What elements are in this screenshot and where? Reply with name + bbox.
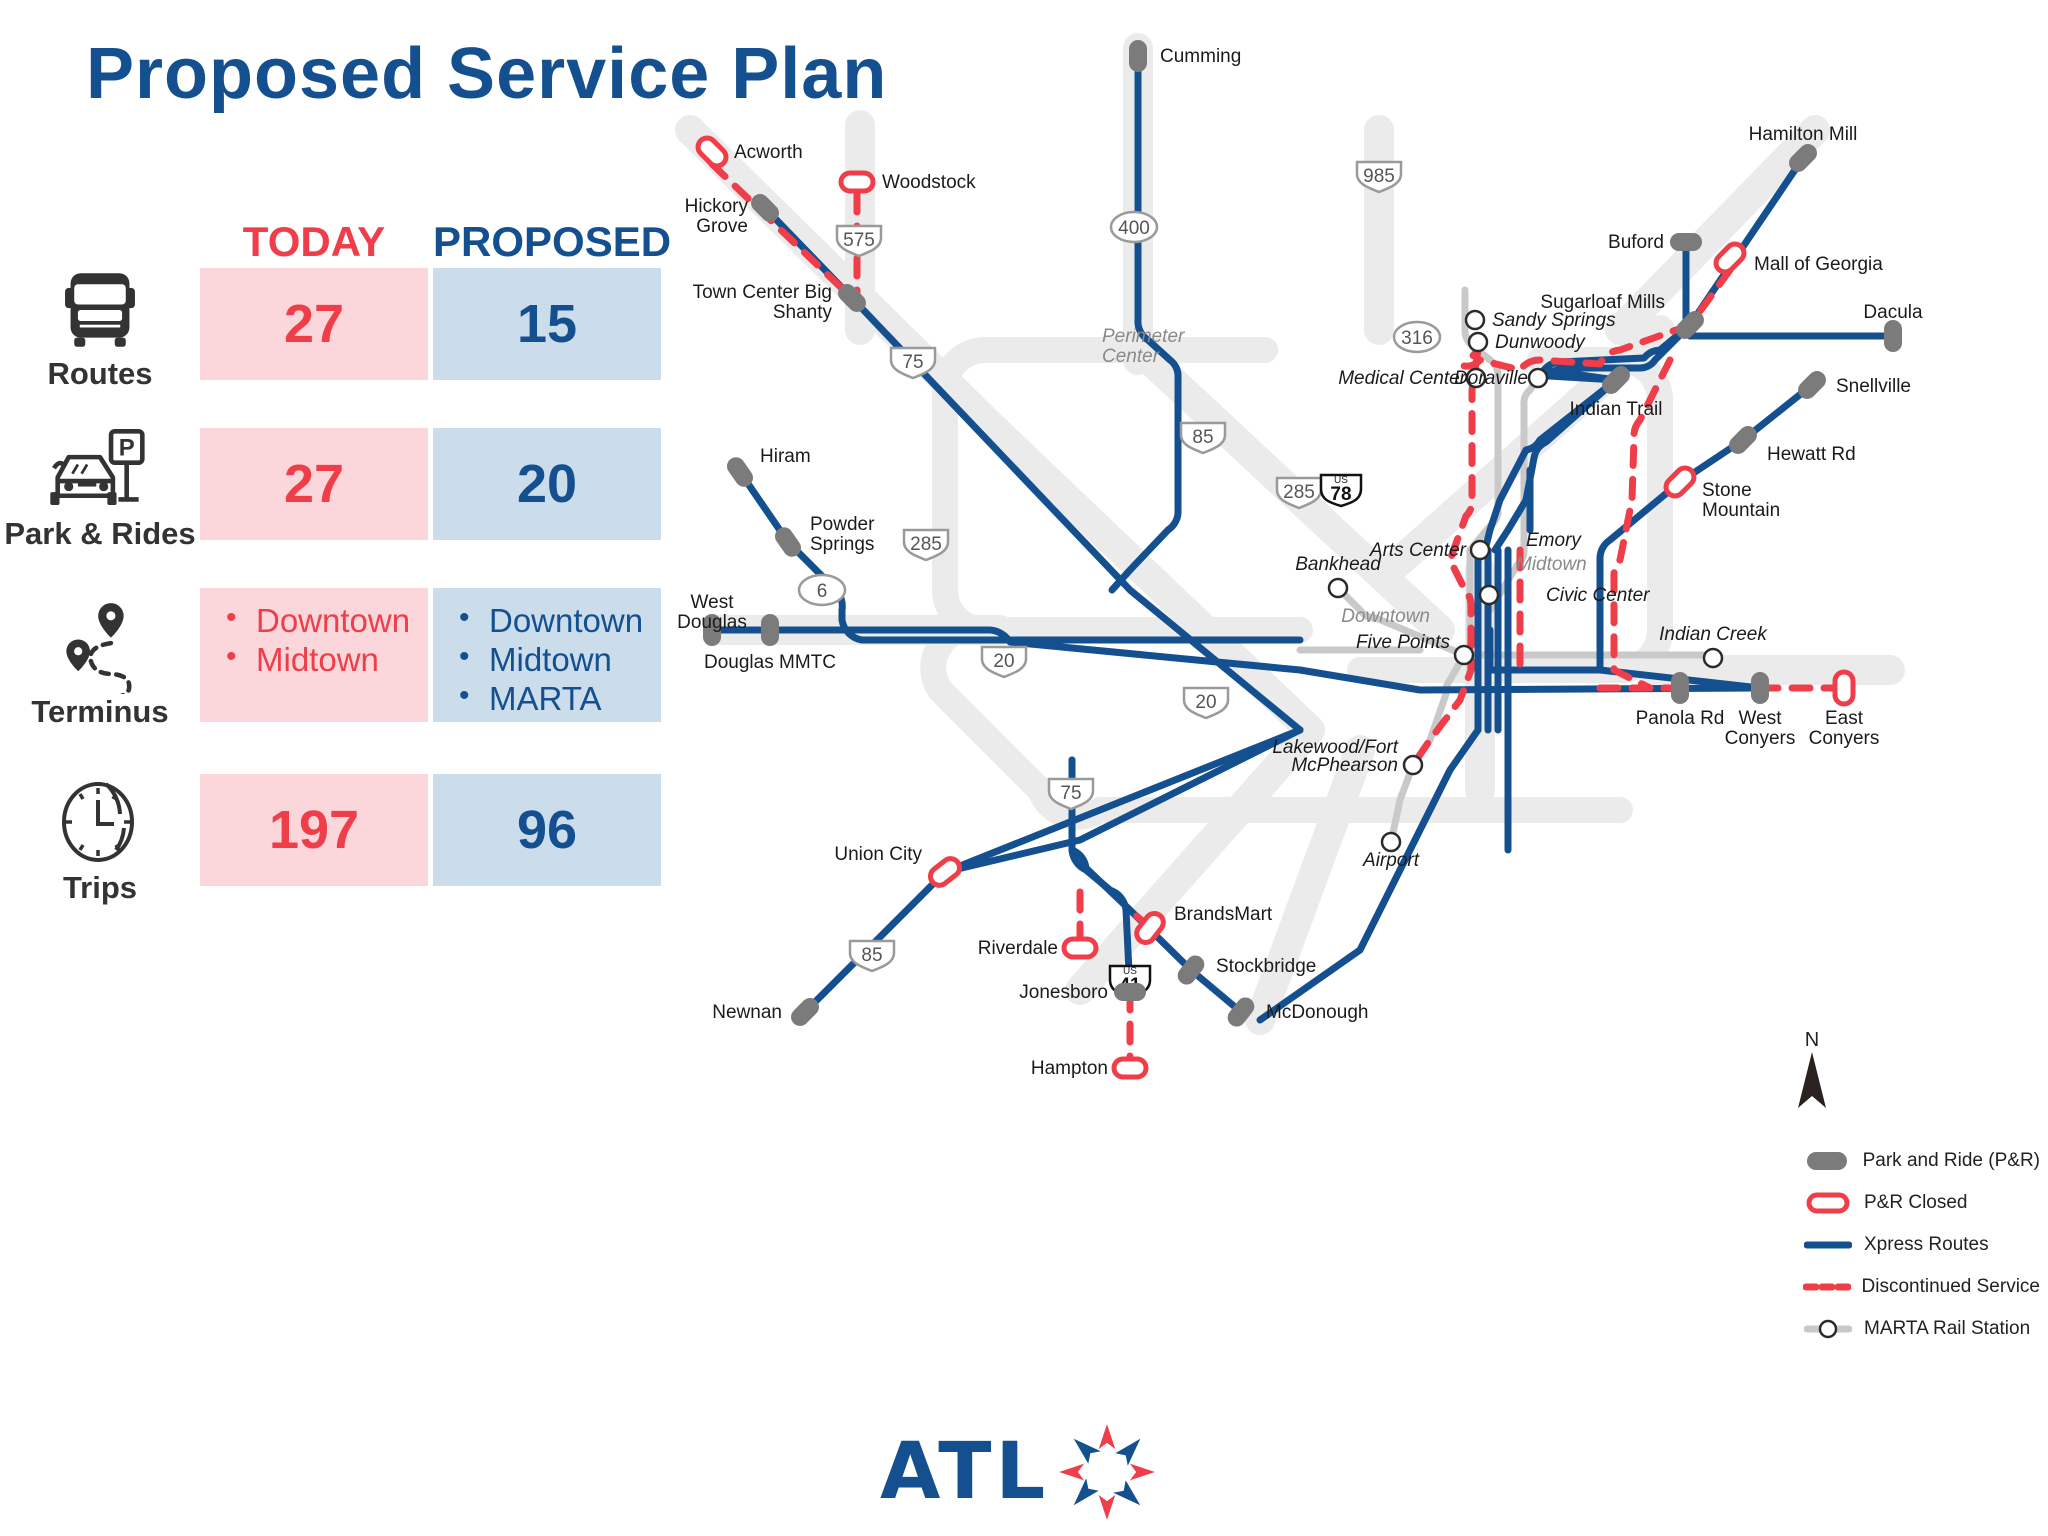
cell-today-terminus: Downtown Midtown: [200, 588, 428, 722]
station-cumming: Cumming: [1129, 40, 1241, 72]
highway-shield-20-e: 20: [1184, 688, 1228, 718]
marta-station-sandy-springs: Sandy Springs: [1466, 310, 1616, 331]
highway-shield-85-s: 85: [850, 941, 894, 971]
svg-text:20: 20: [993, 651, 1014, 672]
cell-today-park-rides: 27: [200, 428, 428, 540]
svg-text:McDonough: McDonough: [1266, 1002, 1368, 1023]
station-newnan: Newnan: [712, 994, 822, 1029]
svg-text:Dunwoody: Dunwoody: [1495, 332, 1586, 353]
station-riverdale-closed: Riverdale: [978, 938, 1096, 959]
bus-icon: [0, 260, 200, 356]
row-label: Terminus: [0, 694, 200, 730]
route-pin-icon: [0, 588, 200, 694]
svg-text:Cumming: Cumming: [1160, 46, 1241, 67]
list-item: Downtown: [222, 602, 428, 641]
svg-text:575: 575: [843, 230, 875, 251]
svg-text:Five Points: Five Points: [1356, 632, 1450, 653]
list-item: Midtown: [455, 641, 661, 680]
highway-shield-400: 400: [1111, 212, 1157, 242]
legend-label: Xpress Routes: [1864, 1234, 1989, 1256]
legend-label: P&R Closed: [1864, 1192, 1968, 1214]
svg-text:Newnan: Newnan: [712, 1002, 782, 1023]
svg-text:Sugarloaf Mills: Sugarloaf Mills: [1540, 292, 1665, 313]
infographic-page: Proposed Service Plan TODAY PROPOSED Rou…: [0, 0, 2048, 1536]
legend-label: Discontinued Service: [1862, 1276, 2040, 1298]
cell-proposed-park-rides: 20: [433, 428, 661, 540]
map-legend: Park and Ride (P&R) P&R Closed Xpress Ro…: [1800, 1145, 2040, 1355]
svg-text:Bankhead: Bankhead: [1295, 554, 1382, 575]
north-arrow-icon: [1794, 1050, 1830, 1112]
svg-text:Woodstock: Woodstock: [882, 172, 976, 193]
highway-shield-6: 6: [799, 575, 845, 605]
svg-text:Airport: Airport: [1362, 850, 1420, 871]
svg-text:985: 985: [1363, 166, 1395, 187]
marta-station-dunwoody: Dunwoody: [1469, 332, 1586, 353]
station-jonesboro: Jonesboro: [1019, 982, 1146, 1003]
park-and-ride-icon: P: [0, 420, 200, 516]
svg-text:Mountain: Mountain: [1702, 500, 1780, 521]
svg-text:Powder: Powder: [810, 514, 875, 535]
table-row: P Park & Rides 27 20: [0, 420, 700, 570]
marta-station-airport: Airport: [1362, 833, 1420, 871]
legend-item-marta-rail-station: MARTA Rail Station: [1800, 1313, 2040, 1344]
row-label: Park & Rides: [0, 516, 200, 552]
svg-text:Hiram: Hiram: [760, 446, 811, 467]
svg-text:85: 85: [861, 945, 882, 966]
svg-text:Springs: Springs: [810, 534, 874, 555]
cell-today-trips: 197: [200, 774, 428, 886]
cell-proposed-terminus: Downtown Midtown MARTA: [433, 588, 661, 722]
column-header-today: TODAY: [200, 218, 428, 266]
marta-station-icon: [1800, 1319, 1856, 1339]
area-label-perimeter-center-2: Center: [1102, 346, 1160, 367]
svg-text:316: 316: [1401, 328, 1433, 349]
cell-today-routes: 27: [200, 268, 428, 380]
svg-text:78: 78: [1330, 484, 1351, 505]
svg-text:Hewatt Rd: Hewatt Rd: [1767, 444, 1856, 465]
legend-item-discontinued-service: Discontinued Service: [1800, 1271, 2040, 1302]
svg-text:McPhearson: McPhearson: [1291, 755, 1398, 776]
svg-text:Grove: Grove: [696, 216, 748, 237]
station-hewatt-rd: Hewatt Rd: [1725, 422, 1855, 465]
svg-text:Dacula: Dacula: [1863, 302, 1923, 323]
svg-text:285: 285: [910, 534, 942, 555]
highway-shield-85-n: 85: [1181, 423, 1225, 453]
svg-text:Buford: Buford: [1608, 232, 1664, 253]
svg-text:Indian Trail: Indian Trail: [1570, 399, 1663, 420]
cell-proposed-trips: 96: [433, 774, 661, 886]
svg-text:West: West: [691, 592, 735, 613]
svg-text:Medical Center: Medical Center: [1338, 368, 1466, 389]
svg-text:Hickory: Hickory: [685, 196, 749, 217]
area-label-perimeter-center: Perimeter: [1102, 326, 1185, 347]
svg-text:Conyers: Conyers: [1725, 728, 1796, 749]
area-label-midtown: Midtown: [1516, 554, 1587, 575]
row-label: Trips: [0, 870, 200, 906]
station-buford: Buford: [1608, 232, 1702, 253]
station-snellville: Snellville: [1794, 367, 1911, 402]
station-hampton-closed: Hampton: [1031, 1058, 1146, 1079]
legend-label: Park and Ride (P&R): [1863, 1150, 2040, 1172]
clock-icon: [0, 766, 200, 870]
xpress-line-icon: [1800, 1238, 1856, 1252]
marta-station-doraville: Doraville: [1454, 368, 1547, 389]
table-row: Routes 27 15: [0, 260, 700, 410]
marta-station-lakewood-fort-mcphearson: Lakewood/Fort McPhearson: [1272, 737, 1422, 776]
svg-text:Conyers: Conyers: [1809, 728, 1880, 749]
station-mcdonough: McDonough: [1224, 994, 1368, 1030]
station-acworth-closed: Acworth: [694, 134, 802, 169]
svg-text:East: East: [1825, 708, 1864, 729]
atl-wordmark: ATL: [880, 1433, 1049, 1511]
svg-text:Snellville: Snellville: [1836, 376, 1911, 397]
legend-label: MARTA Rail Station: [1864, 1318, 2030, 1340]
legend-item-park-and-ride: Park and Ride (P&R): [1800, 1145, 2040, 1176]
svg-text:Jonesboro: Jonesboro: [1019, 982, 1108, 1003]
list-item: Downtown: [455, 602, 661, 641]
svg-text:Doraville: Doraville: [1454, 368, 1528, 389]
area-label-emory: Emory: [1526, 530, 1582, 551]
svg-text:Indian Creek: Indian Creek: [1659, 624, 1768, 645]
svg-text:Stockbridge: Stockbridge: [1216, 956, 1316, 977]
station-woodstock-closed: Woodstock: [841, 172, 976, 193]
svg-text:Civic Center: Civic Center: [1546, 585, 1650, 606]
list-item: MARTA: [455, 680, 661, 719]
compass-label: N: [1782, 1030, 1842, 1050]
station-dacula: Dacula: [1863, 302, 1923, 352]
svg-text:Stone: Stone: [1702, 480, 1752, 501]
svg-text:Hamilton Mill: Hamilton Mill: [1749, 124, 1858, 145]
svg-text:20: 20: [1195, 692, 1216, 713]
station-stone-mountain-closed: StoneMountain: [1662, 464, 1780, 521]
highway-shield-316: 316: [1394, 322, 1440, 352]
svg-text:75: 75: [902, 352, 923, 373]
atl-logo: ATL: [880, 1420, 1159, 1524]
table-row: Trips 197 96: [0, 766, 700, 926]
svg-text:Douglas MMTC: Douglas MMTC: [704, 652, 836, 673]
svg-text:Sandy Springs: Sandy Springs: [1492, 310, 1616, 331]
svg-text:Mall of Georgia: Mall of Georgia: [1754, 254, 1883, 275]
compass-north-arrow: N: [1782, 1030, 1842, 1117]
cell-proposed-routes: 15: [433, 268, 661, 380]
svg-text:P: P: [119, 434, 135, 461]
legend-item-pr-closed: P&R Closed: [1800, 1187, 2040, 1218]
atl-starburst-icon: [1055, 1420, 1159, 1524]
park-and-ride-pill-icon: [1800, 1150, 1855, 1172]
svg-text:Shanty: Shanty: [773, 302, 833, 323]
highway-shield-985: 985: [1357, 162, 1401, 192]
station-mall-of-georgia-closed: Mall of Georgia: [1712, 240, 1883, 275]
station-hiram: Hiram: [723, 446, 810, 490]
svg-text:Hampton: Hampton: [1031, 1058, 1108, 1079]
station-stockbridge: Stockbridge: [1174, 952, 1316, 988]
area-label-downtown: Downtown: [1341, 606, 1430, 627]
svg-text:Arts Center: Arts Center: [1369, 540, 1467, 561]
svg-text:75: 75: [1060, 783, 1081, 804]
row-label: Routes: [0, 356, 200, 392]
svg-text:Town Center Big: Town Center Big: [693, 282, 832, 303]
legend-item-xpress-routes: Xpress Routes: [1800, 1229, 2040, 1260]
svg-text:6: 6: [817, 581, 828, 602]
highway-shield-78: US 78: [1321, 475, 1361, 506]
svg-text:West: West: [1739, 708, 1783, 729]
pr-closed-pill-icon: [1800, 1192, 1856, 1214]
svg-text:285: 285: [1283, 482, 1315, 503]
svg-text:Riverdale: Riverdale: [978, 938, 1058, 959]
discontinued-line-icon: [1800, 1280, 1854, 1294]
station-powder-springs: PowderSprings: [771, 514, 875, 560]
svg-text:BrandsMart: BrandsMart: [1174, 904, 1273, 925]
table-row: Terminus Downtown Midtown Downtown Midto…: [0, 580, 700, 750]
highway-shield-20-w: 20: [982, 647, 1026, 677]
station-union-city-closed: Union City: [834, 844, 963, 889]
svg-text:Douglas: Douglas: [677, 612, 747, 633]
svg-text:Union City: Union City: [834, 844, 922, 865]
svg-text:400: 400: [1118, 218, 1150, 239]
svg-text:Acworth: Acworth: [734, 142, 803, 163]
svg-text:Panola Rd: Panola Rd: [1636, 708, 1725, 729]
station-town-center-big-shanty: Town Center BigShanty: [693, 280, 870, 323]
list-item: Midtown: [222, 641, 428, 680]
svg-text:85: 85: [1192, 427, 1213, 448]
